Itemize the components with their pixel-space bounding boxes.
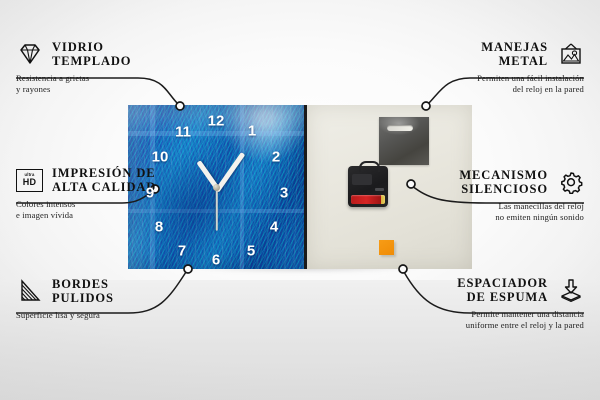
picture-frame-hook-icon: [557, 41, 584, 68]
clock-numeral-4: 4: [270, 220, 278, 235]
feature-title-line2: ALTA CALIDAD: [52, 180, 156, 194]
feature-title-line1: VIDRIO: [52, 40, 104, 54]
clock-center-pin: [213, 184, 220, 191]
feature-title-line2: METAL: [499, 54, 548, 68]
feature-description: Permiten una fácil instalación del reloj…: [384, 73, 584, 96]
clock-numeral-11: 11: [175, 125, 191, 140]
clock-numeral-7: 7: [178, 244, 186, 259]
diamond-icon: [16, 41, 43, 68]
clock-numeral-5: 5: [247, 244, 255, 259]
feature-vidrio-templado: VIDRIO TEMPLADO Resistencia a grietas y …: [16, 40, 216, 96]
clock-numeral-12: 12: [208, 114, 225, 129]
arrow-onto-layer-icon: [557, 277, 584, 304]
feature-title-line2: PULIDOS: [52, 291, 114, 305]
infographic-canvas: 12 1 2 3 4 5 6 7 8 9 10 11: [0, 0, 600, 400]
feature-title: MANEJAS METAL: [481, 40, 548, 68]
feature-desc-line2: e imagen vívida: [16, 210, 73, 220]
feature-title: BORDES PULIDOS: [52, 277, 114, 305]
feature-title: ESPACIADOR DE ESPUMA: [457, 276, 548, 304]
clock-numeral-3: 3: [280, 186, 288, 201]
feature-mecanismo-silencioso: MECANISMO SILENCIOSO Las manecillas del …: [384, 168, 584, 224]
clock-numeral-1: 1: [248, 124, 256, 139]
clock-numeral-6: 6: [212, 253, 220, 268]
node-espaciador: [399, 265, 407, 273]
clock-numeral-9: 9: [146, 186, 154, 201]
clock-numeral-2: 2: [272, 150, 280, 165]
feature-desc-line2: del reloj en la pared: [513, 84, 584, 94]
feature-desc-line1: Colores intensos: [16, 199, 75, 209]
feature-impresion-alta-calidad: ultra HD IMPRESIÓN DE ALTA CALIDAD Color…: [16, 166, 216, 222]
feature-description: Las manecillas del reloj no emiten ningú…: [384, 201, 584, 224]
feature-description: Colores intensos e imagen vívida: [16, 199, 216, 222]
gear-icon: [557, 169, 584, 196]
feature-desc-line1: Resistencia a grietas: [16, 73, 89, 83]
feature-desc-line2: no emiten ningún sonido: [495, 212, 584, 222]
feature-desc-line1: Permite mantener una distancia: [471, 309, 584, 319]
clock-numeral-10: 10: [152, 150, 169, 165]
node-vidrio-templado: [176, 102, 184, 110]
feature-description: Resistencia a grietas y rayones: [16, 73, 216, 96]
feature-desc-line2: y rayones: [16, 84, 51, 94]
feature-title-line2: TEMPLADO: [52, 54, 131, 68]
node-bordes: [184, 265, 192, 273]
feature-desc-line1: Permiten una fácil instalación: [477, 73, 584, 83]
ultra-hd-icon: ultra HD: [16, 167, 43, 194]
feature-title-line2: DE ESPUMA: [467, 290, 548, 304]
clock-numeral-8: 8: [155, 220, 163, 235]
feature-title-line1: ESPACIADOR: [457, 276, 548, 290]
feature-manejas-metal: MANEJAS METAL Permiten una fácil instala…: [384, 40, 584, 96]
feature-title-line1: MECANISMO: [459, 168, 548, 182]
feature-desc-line1: Las manecillas del reloj: [499, 201, 584, 211]
feature-title: IMPRESIÓN DE ALTA CALIDAD: [52, 166, 156, 194]
feature-desc-line2: uniforme entre el reloj y la pared: [466, 320, 584, 330]
polished-edge-icon: [16, 278, 43, 305]
feature-title-line2: SILENCIOSO: [461, 182, 548, 196]
feature-title-line1: MANEJAS: [481, 40, 548, 54]
feature-title-line1: IMPRESIÓN DE: [52, 166, 156, 180]
node-manejas: [422, 102, 430, 110]
feature-title: MECANISMO SILENCIOSO: [459, 168, 548, 196]
feature-title: VIDRIO TEMPLADO: [52, 40, 131, 68]
feature-bordes-pulidos: BORDES PULIDOS Superficie lisa y segura: [16, 277, 216, 321]
feature-title-line1: BORDES: [52, 277, 109, 291]
feature-desc-line1: Superficie lisa y segura: [16, 310, 100, 320]
ultra-hd-icon-main-label: HD: [23, 178, 36, 187]
feature-espaciador-de-espuma: ESPACIADOR DE ESPUMA Permite mantener un…: [384, 276, 584, 332]
feature-description: Permite mantener una distancia uniforme …: [384, 309, 584, 332]
feature-description: Superficie lisa y segura: [16, 310, 216, 321]
clock-second-hand: [216, 187, 218, 231]
